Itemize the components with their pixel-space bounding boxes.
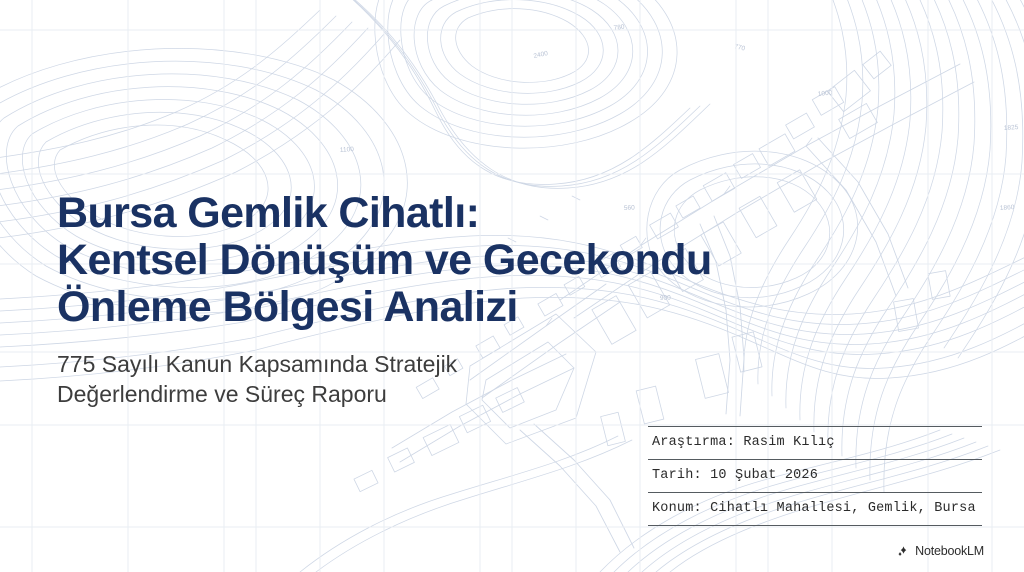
notebooklm-brand: NotebookLM [897, 544, 984, 558]
title-slide: 2400 780 770 1000 1825 560 1100 1860 900 [0, 0, 1024, 572]
metadata-row-arastirma: Araştırma: Rasim Kılıç [648, 426, 982, 460]
slide-content: Bursa Gemlik Cihatlı: Kentsel Dönüşüm ve… [0, 0, 1024, 572]
metadata-table: Araştırma: Rasim Kılıç Tarih: 10 Şubat 2… [648, 426, 982, 526]
metadata-row-konum: Konum: Cihatlı Mahallesi, Gemlik, Bursa [648, 493, 982, 526]
metadata-row-tarih: Tarih: 10 Şubat 2026 [648, 460, 982, 493]
notebooklm-brand-label: NotebookLM [915, 544, 984, 558]
page-subtitle: 775 Sayılı Kanun Kapsamında Stratejik De… [57, 349, 817, 409]
notebooklm-spark-icon [897, 545, 910, 558]
title-block: Bursa Gemlik Cihatlı: Kentsel Dönüşüm ve… [57, 190, 817, 409]
page-title: Bursa Gemlik Cihatlı: Kentsel Dönüşüm ve… [57, 190, 817, 331]
